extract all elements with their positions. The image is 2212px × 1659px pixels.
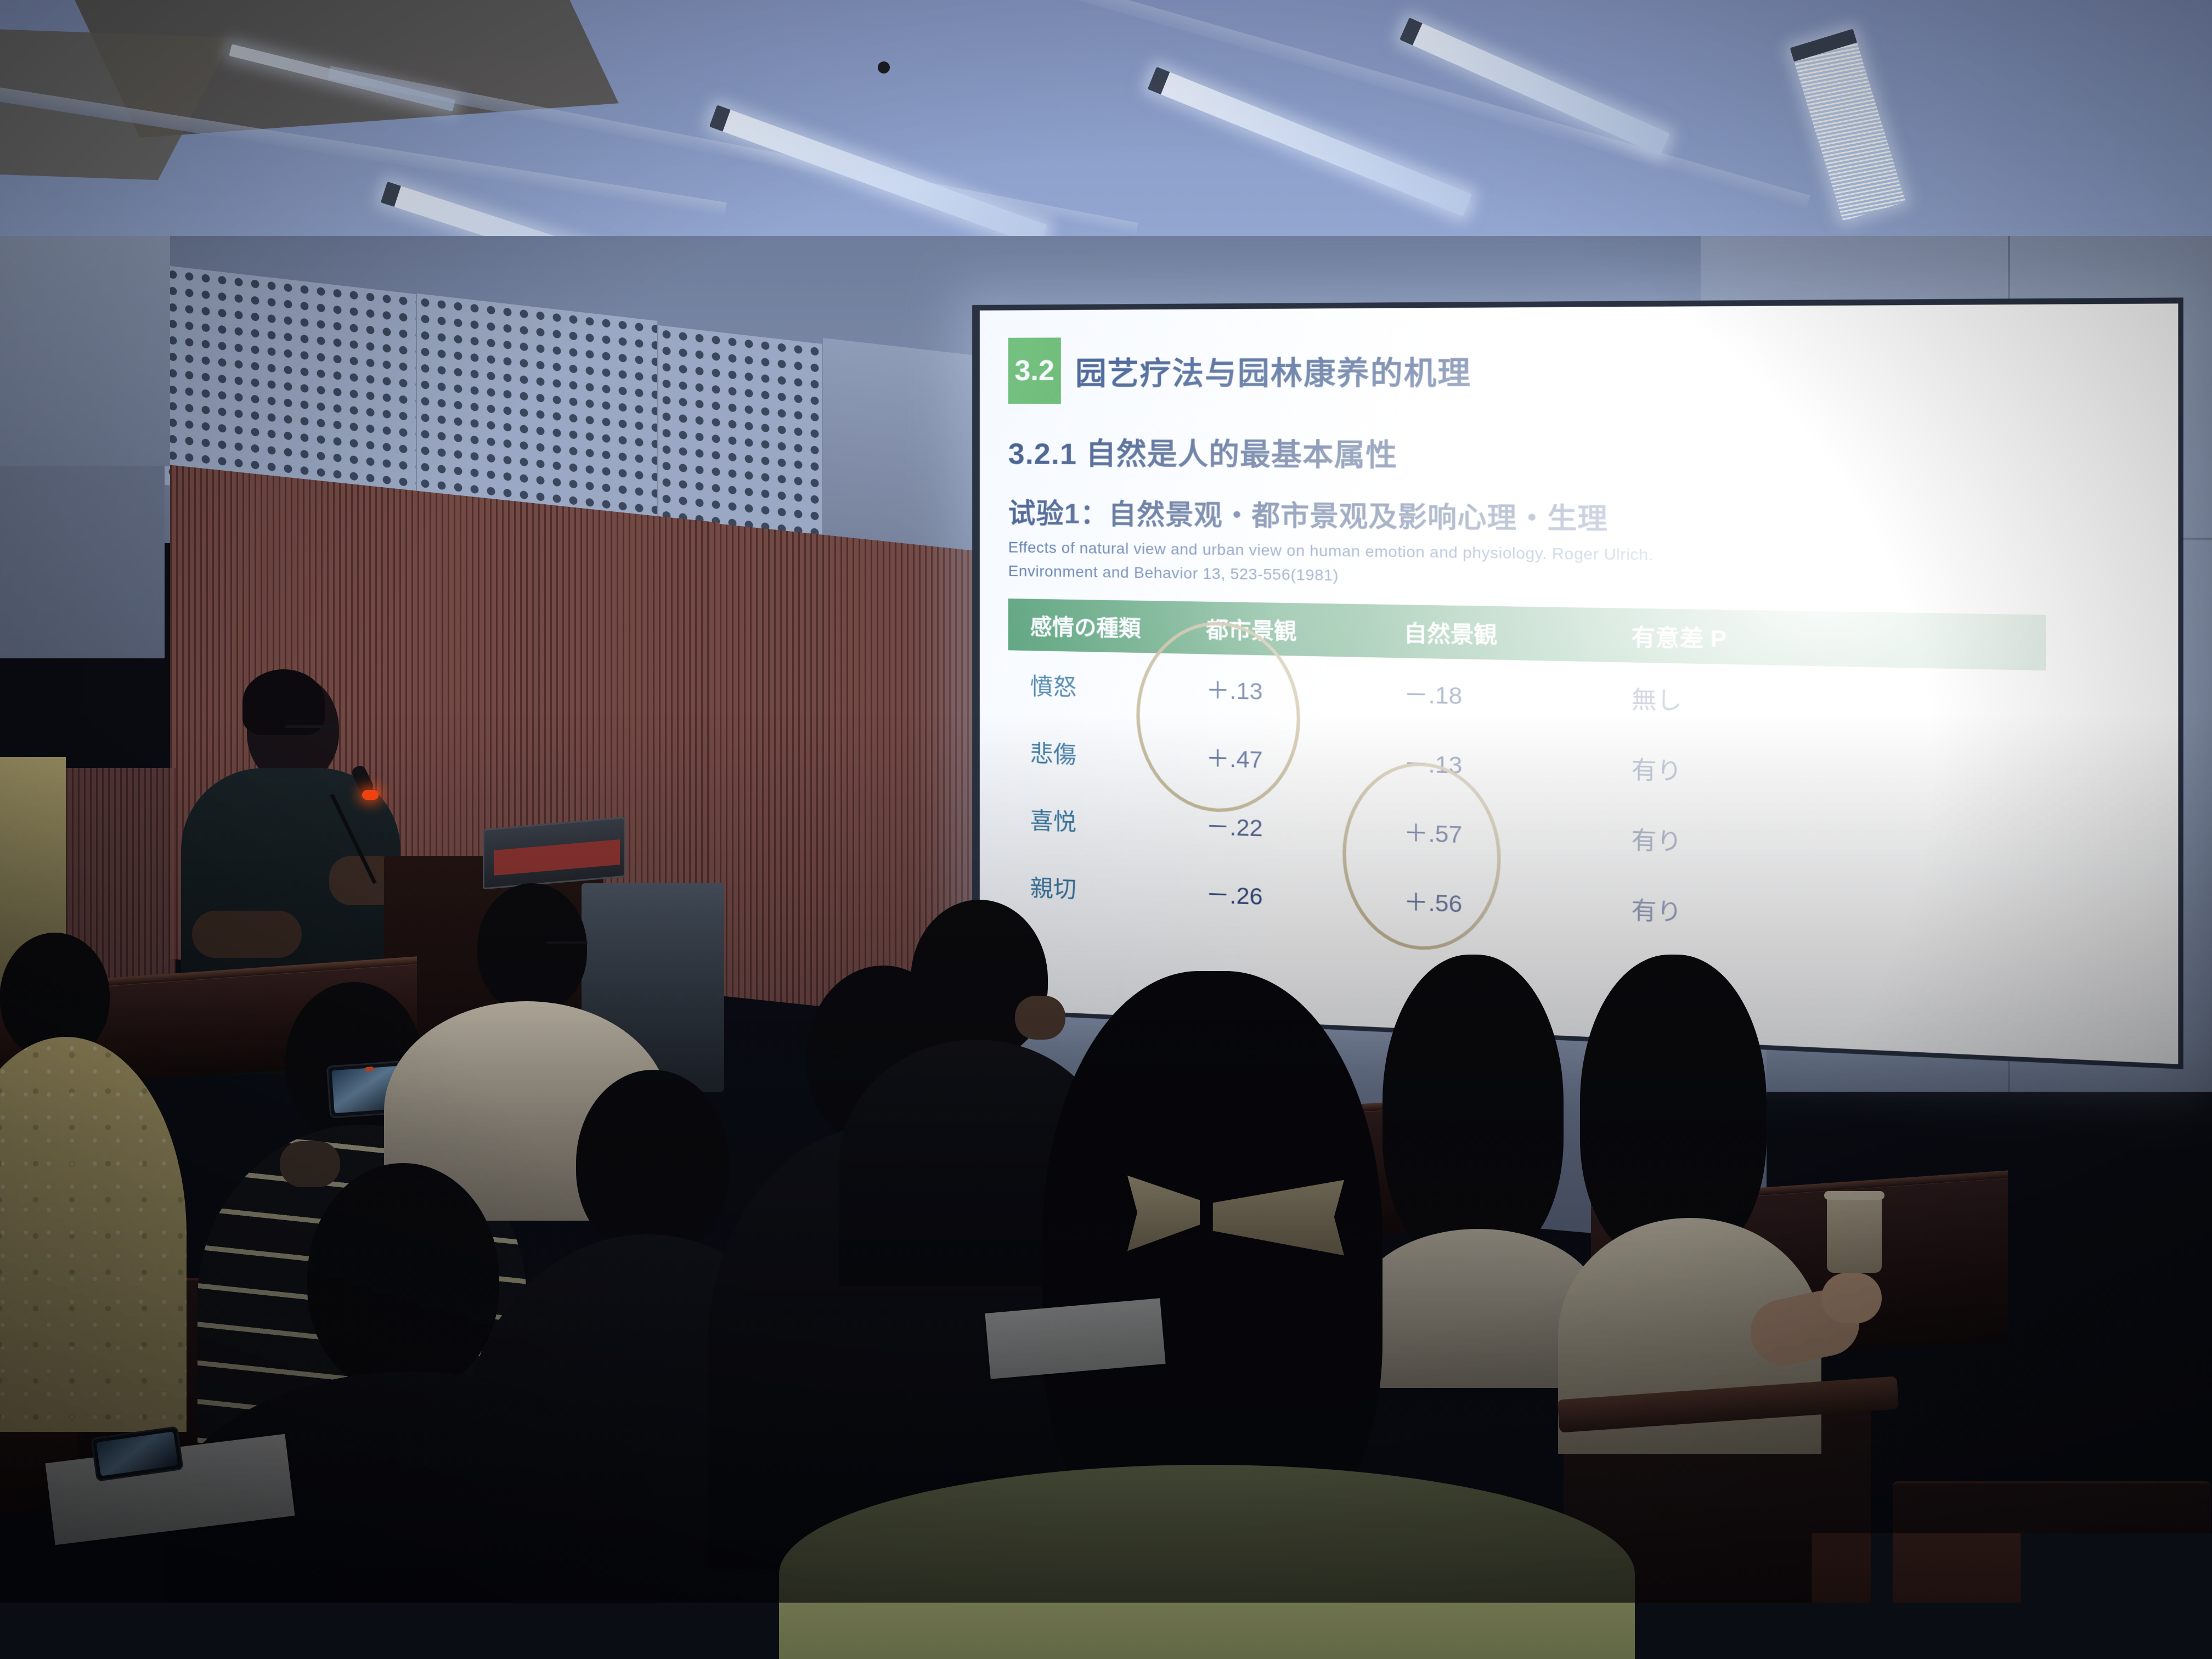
slide-experiment-heading: 试验1：自然景观・都市景观及影响心理・生理 xyxy=(1008,492,2145,543)
presenter-glasses xyxy=(285,725,338,728)
microphone-indicator-led xyxy=(362,790,379,800)
cell-significance: 有り xyxy=(1632,751,1838,792)
attendee-torso xyxy=(779,1465,1635,1659)
cell-significance: 有り xyxy=(1632,891,1838,934)
slide-section-heading: 3.2.1 自然是人的最基本属性 xyxy=(1008,429,2145,479)
ceiling-light-strip-4 xyxy=(1400,18,1670,156)
cell-emotion: 喜悦 xyxy=(1030,802,1180,840)
attendee-hair xyxy=(1580,955,1767,1262)
attendee-glasses xyxy=(546,941,588,944)
attendee-hand xyxy=(1015,996,1065,1040)
attendee-head xyxy=(307,1163,499,1393)
presenter-right-arm xyxy=(192,911,302,958)
cell-significance: 無し xyxy=(1632,680,1838,720)
projection-screen: 3.2 园艺疗法与园林康养的机理 3.2.1 自然是人的最基本属性 试验1：自然… xyxy=(980,303,2178,1064)
light-end-cap xyxy=(381,182,401,207)
attendee-head xyxy=(477,883,587,1012)
chair-back-front-right xyxy=(1893,1481,2211,1659)
phone-notification-led xyxy=(365,1066,374,1071)
light-end-cap xyxy=(1148,67,1170,95)
table-body: 憤怒 ＋.13 －.18 無し 悲傷 ＋.47 －.13 有り 喜悦 xyxy=(1008,650,2046,960)
ceiling-smoke-detector xyxy=(878,61,890,74)
cup-lid xyxy=(1824,1191,1884,1200)
presentation-slide: 3.2 园艺疗法与园林康养的机理 3.2.1 自然是人的最基本属性 试验1：自然… xyxy=(980,303,2178,1064)
light-end-cap xyxy=(1400,18,1423,46)
light-end-cap xyxy=(709,105,731,131)
attendee-yellow-patterned-top xyxy=(0,933,198,1426)
slide-title-row: 3.2 园艺疗法与园林康养的机理 xyxy=(1008,334,2145,405)
table-col-header-nature: 自然景観 xyxy=(1404,615,1604,652)
slide-title: 园艺疗法与园林康养的机理 xyxy=(1075,336,1471,404)
section-number-badge: 3.2 xyxy=(1008,337,1061,404)
attendee-torso xyxy=(0,1037,187,1432)
light-end-cap xyxy=(1790,29,1857,61)
results-table: 感情の種類 都市景観 自然景観 有意差 P 憤怒 ＋.13 －.18 無し xyxy=(1008,599,2046,960)
ceiling-light-grille-panel xyxy=(1790,29,1906,221)
table-col-header-significance: 有意差 P xyxy=(1632,619,1838,656)
cell-significance: 有り xyxy=(1632,821,1838,863)
ceiling-light-strip-2 xyxy=(709,105,1047,246)
paper-coffee-cup-right xyxy=(1827,1196,1882,1273)
projection-screen-frame: 3.2 园艺疗法与园林康养的机理 3.2.1 自然是人的最基本属性 试验1：自然… xyxy=(972,297,2183,1069)
back-wall-panel-upper-left xyxy=(0,236,170,466)
phone-screen xyxy=(96,1431,178,1476)
table-col-header-emotion: 感情の種類 xyxy=(1030,609,1180,644)
attendee-long-hair-bow xyxy=(878,1037,1536,1659)
attendee-front-left-dark xyxy=(181,1163,631,1659)
attendee-hand xyxy=(1821,1273,1882,1323)
attendee-beige-blouse xyxy=(1547,955,1843,1448)
cell-nature: －.18 xyxy=(1404,675,1604,714)
lecture-hall-photo: 3.2 园艺疗法与园林康养的机理 3.2.1 自然是人的最基本属性 试验1：自然… xyxy=(0,0,2212,1659)
